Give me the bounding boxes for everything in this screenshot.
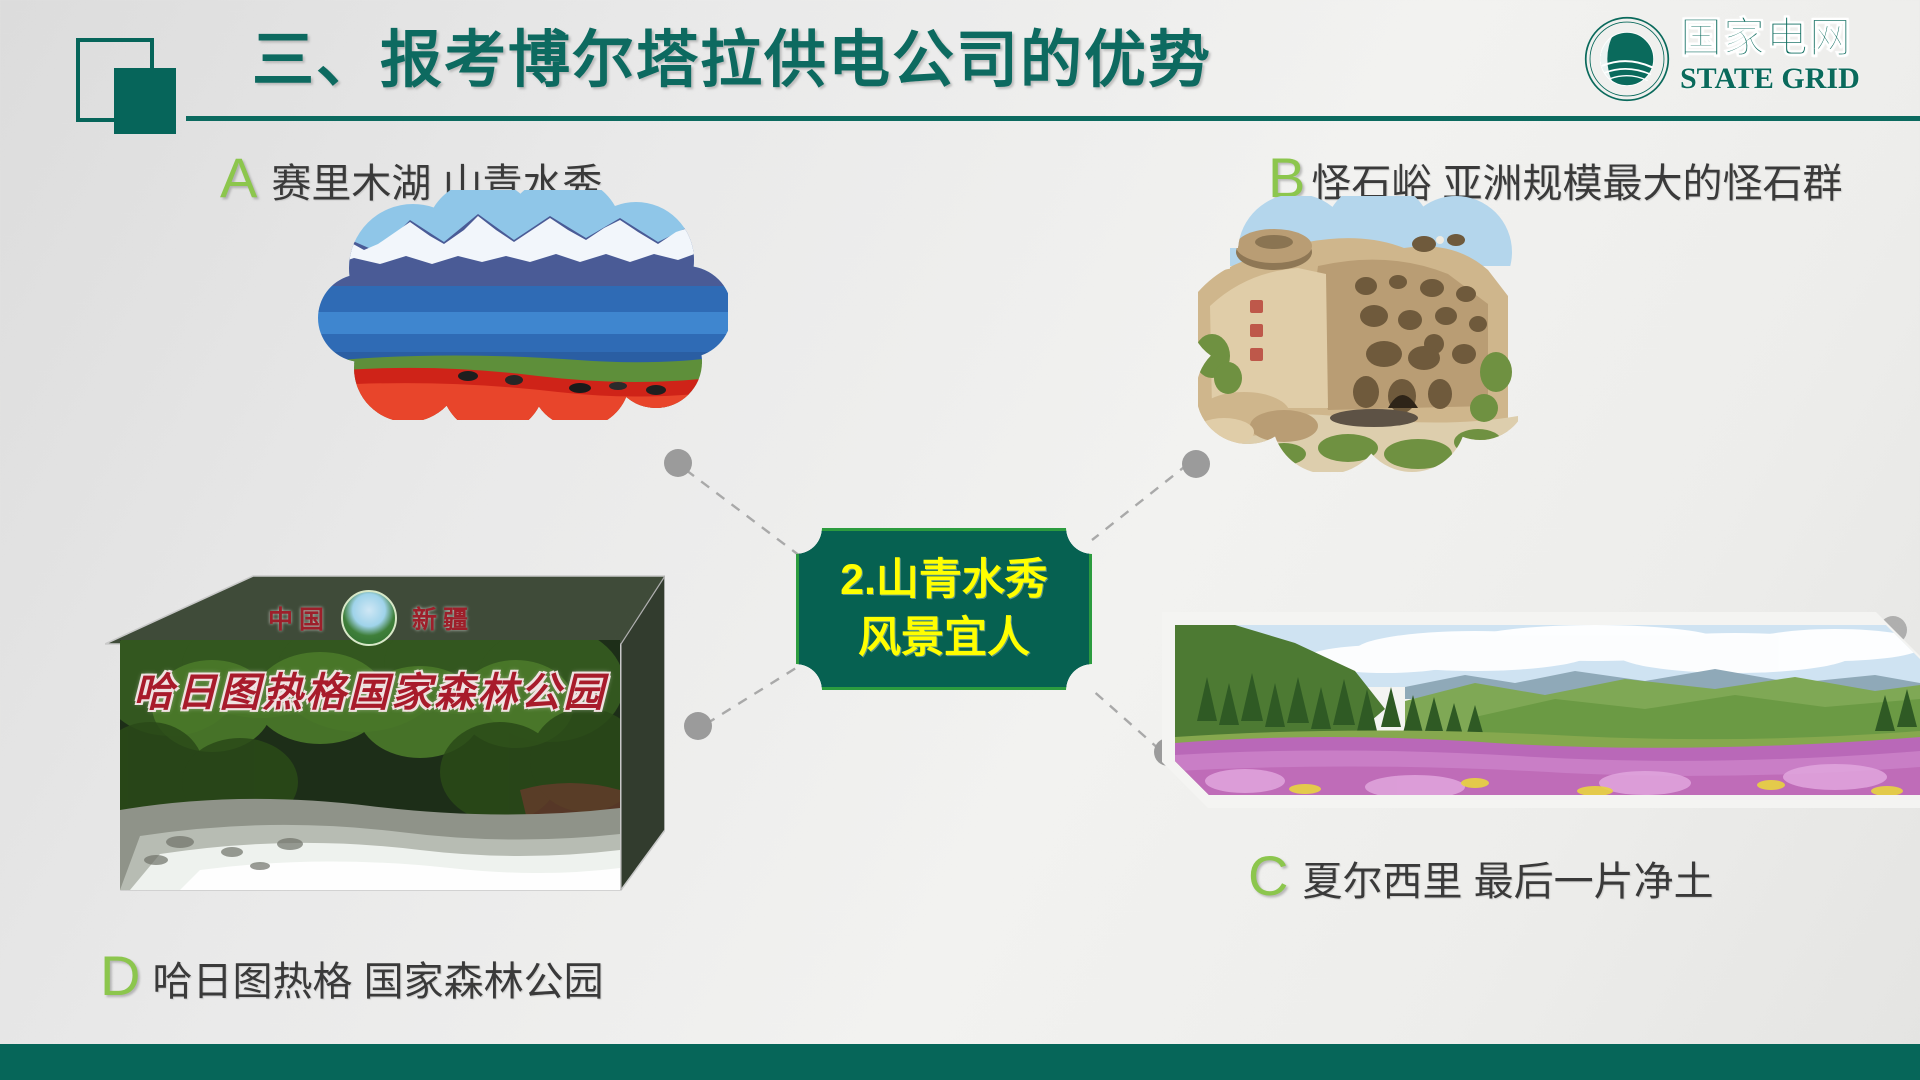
footer-bar [0,1044,1920,1080]
item-letter-a: A [220,150,257,206]
center-theme-badge: 2.山青水秀 风景宜人 [796,528,1092,690]
item-text-c: 夏尔西里 最后一片净土 [1302,862,1713,902]
connector-dot-a [664,449,692,477]
item-letter-d: D [100,948,140,1004]
header-decor-square-filled [114,68,176,134]
state-grid-seal-icon [1584,16,1670,102]
state-grid-logo-cn: 国家电网 [1680,14,1902,62]
photo-xiaerxili-meadow [1175,625,1920,795]
photo-sayram-lake [318,190,728,420]
item-letter-c: C [1248,848,1288,904]
connector-line-d [706,668,796,724]
state-grid-logo-text: 国家电网 STATE GRID [1680,14,1902,102]
connector-line-a [686,470,800,556]
connector-line-c [1090,688,1160,750]
item-text-d: 哈日图热格 国家森林公园 [152,962,603,1002]
item-label-c: C 夏尔西里 最后一片净土 [1248,848,1714,904]
item-label-d: D 哈日图热格 国家森林公园 [100,948,604,1004]
center-badge-line-2: 风景宜人 [858,609,1030,667]
haritu-caption-right: 新疆 [412,600,512,636]
page-title: 三、报考博尔塔拉供电公司的优势 [252,18,1272,104]
connector-line-b [1092,464,1188,540]
state-grid-logo: 国家电网 STATE GRID [1584,12,1904,104]
haritu-photo-title: 哈日图热格国家森林公园 [120,660,620,718]
connector-dot-d [684,712,712,740]
slide-root: 三、报考博尔塔拉供电公司的优势 国家电网 STATE GRID A [0,0,1920,1080]
haritu-park-emblem-icon [341,590,397,646]
header-divider-rule [186,116,1920,121]
state-grid-logo-en: STATE GRID [1680,62,1902,96]
center-badge-line-1: 2.山青水秀 [840,551,1048,609]
haritu-caption-left: 中国 [240,600,330,636]
photo-guaishiyu-rocks [1188,196,1518,472]
